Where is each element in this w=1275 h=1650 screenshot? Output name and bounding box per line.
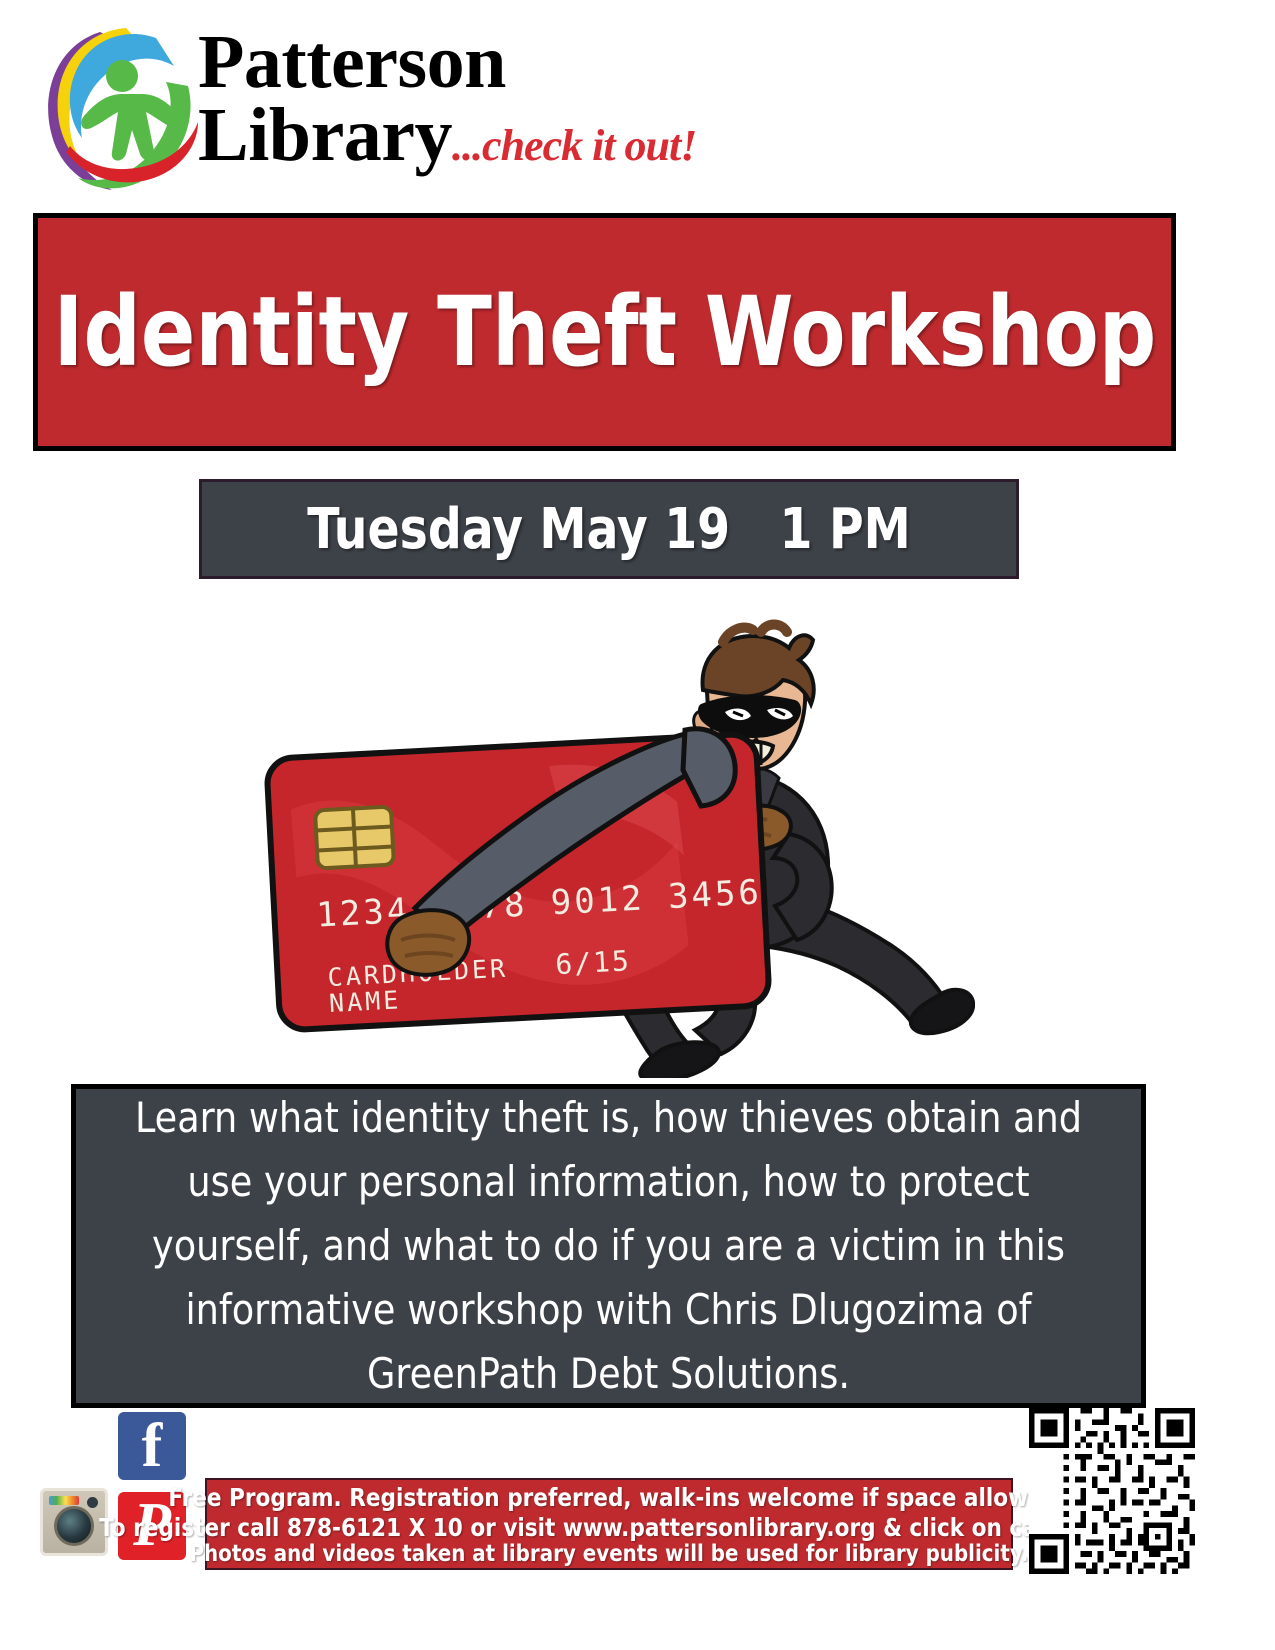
logo-swirl-icon [38, 24, 213, 194]
footer-line-photo-notice: Photos and videos taken at library event… [190, 1542, 1029, 1567]
description-text: Learn what identity theft is, how thieve… [113, 1086, 1103, 1405]
footer-line-free-program: Free Program. Registration preferred, wa… [169, 1481, 1050, 1515]
instagram-lens [54, 1506, 94, 1546]
registration-footer: Free Program. Registration preferred, wa… [205, 1478, 1013, 1570]
logo-tagline: ...check it out! [452, 121, 696, 170]
facebook-icon[interactable]: f [118, 1412, 186, 1480]
instagram-icon[interactable] [40, 1488, 108, 1556]
svg-text:6/15: 6/15 [555, 944, 632, 981]
library-logo: Patterson Library...check it out! [38, 18, 698, 198]
thief-illustration: 1234 5678 9012 3456 CARDHOLDER NAME 6/15 [255, 588, 975, 1078]
instagram-viewfinder-dot [87, 1497, 98, 1508]
event-datetime: Tuesday May 19 1 PM [307, 497, 911, 562]
title-banner: Identity Theft Workshop [33, 213, 1176, 451]
logo-wordmark: Patterson Library...check it out! [198, 26, 698, 172]
qr-code[interactable] [1029, 1408, 1195, 1574]
footer-line-register: To register call 878-6121 X 10 or visit … [99, 1514, 1119, 1542]
instagram-rainbow-stripe [49, 1496, 79, 1505]
facebook-glyph: f [118, 1414, 186, 1479]
page-title: Identity Theft Workshop [53, 276, 1156, 388]
svg-text:NAME: NAME [328, 985, 402, 1018]
logo-library-word: Library [198, 93, 452, 177]
logo-line-library: Library...check it out! [198, 99, 698, 172]
logo-line-patterson: Patterson [198, 26, 698, 99]
poster-page: Patterson Library...check it out! Identi… [0, 0, 1275, 1650]
event-datetime-bar: Tuesday May 19 1 PM [199, 479, 1019, 579]
description-box: Learn what identity theft is, how thieve… [71, 1084, 1146, 1408]
